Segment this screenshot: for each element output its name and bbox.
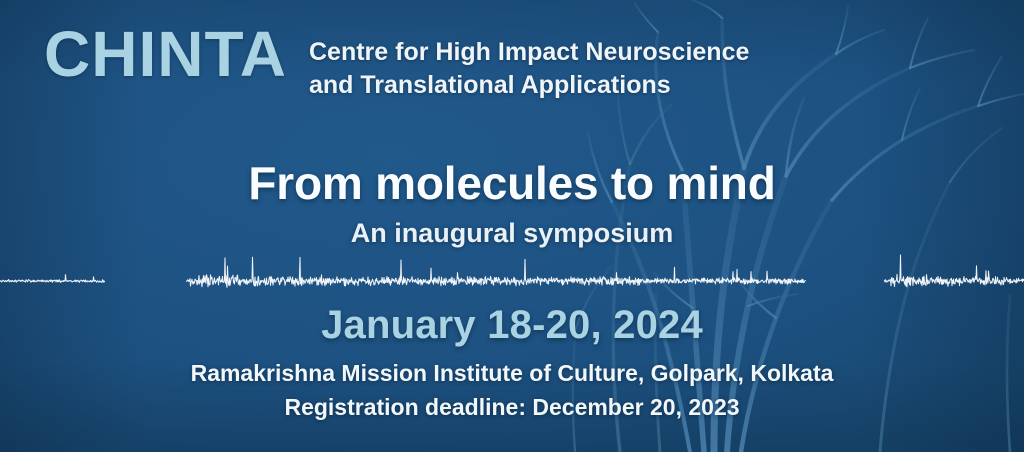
event-banner: CHINTA Centre for High Impact Neuroscien… — [0, 0, 1024, 452]
registration-deadline: Registration deadline: December 20, 2023 — [0, 394, 1024, 421]
event-theme: From molecules to mind — [0, 156, 1024, 210]
logo-lockup: CHINTA Centre for High Impact Neuroscien… — [44, 22, 749, 103]
event-dates: January 18-20, 2024 — [0, 303, 1024, 348]
event-venue: Ramakrishna Mission Institute of Culture… — [0, 360, 1024, 387]
expansion-line-2: and Translational Applications — [309, 69, 749, 102]
acronym-chinta: CHINTA — [44, 22, 287, 87]
event-tagline: An inaugural symposium — [0, 218, 1024, 249]
banner-content: CHINTA Centre for High Impact Neuroscien… — [0, 0, 1024, 452]
acronym-expansion: Centre for High Impact Neuroscience and … — [309, 36, 749, 103]
expansion-line-1: Centre for High Impact Neuroscience — [309, 36, 749, 69]
